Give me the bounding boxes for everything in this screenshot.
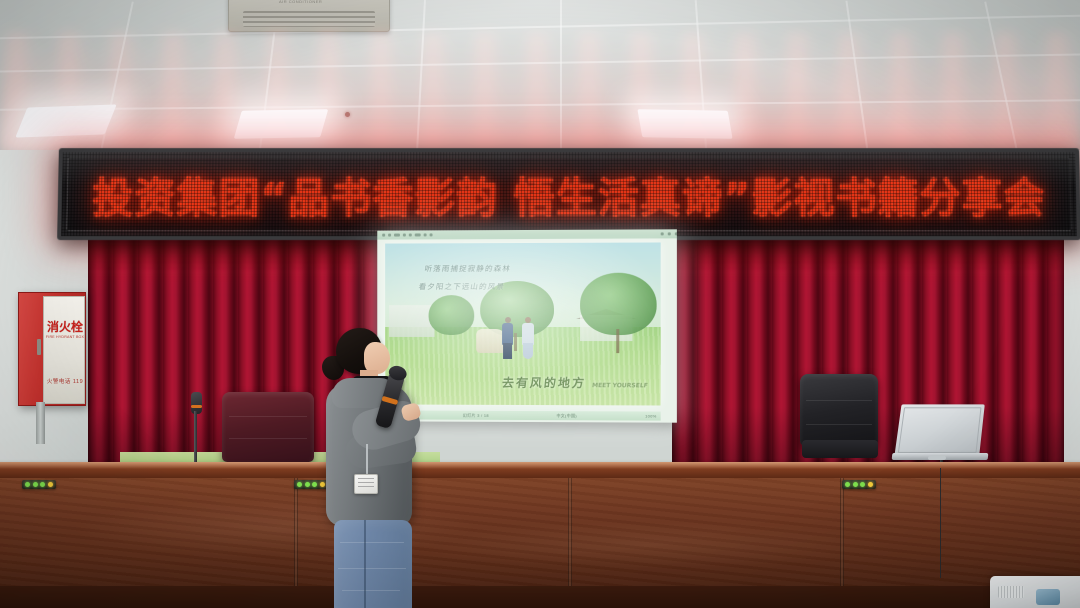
status-led [297,482,302,487]
presentation-status-bar: 幻灯片 3 / 18 中文(中国) 100% [385,410,661,420]
microphone-indicator-ring [381,396,398,405]
laptop-screen-bezel [898,407,982,453]
fire-cabinet-sublabel: 火警电话 119 [46,377,84,385]
chair-black-right[interactable] [800,374,878,470]
standpipe [36,402,45,444]
fire-cabinet-hinge [37,339,41,355]
status-led [853,482,858,487]
microphone-grille [387,364,408,382]
desk-plinth [0,586,1080,608]
zoom-level: 100% [645,413,657,418]
jeans-fold [338,568,406,569]
laptop-trackpad[interactable] [928,456,946,460]
ceiling: AIR CONDITIONER [0,0,1080,152]
status-led [25,482,30,487]
desk-led-strip-3[interactable] [842,480,876,489]
microphone-gooseneck [194,411,197,467]
status-led [33,482,38,487]
status-led [48,482,53,487]
chair-stitch [229,438,306,439]
undo-icon[interactable] [388,234,391,237]
desk-top-surface [0,462,1080,478]
desk-front-panel [0,478,1080,586]
led-banner-display[interactable]: 投资集团“品书香影韵 悟生活真谛”影视书籍分享会 [57,148,1080,240]
slide-projection-glow [385,242,661,405]
fire-cabinet-label-en: FIRE HYDRANT BOX [45,335,85,339]
slide-canvas: 听落雨捕捉寂静的森林 看夕阳之下远山的风景 去有风的地方 MEET YOURSE… [385,242,661,405]
desk-panel-divider [840,478,844,586]
presenter-badge [354,474,378,494]
text-icon[interactable] [409,234,412,237]
laptop[interactable] [892,404,988,466]
status-led [40,482,45,487]
conference-desk [0,462,1080,608]
jeans-fold [340,542,404,543]
chair-stitch [806,400,872,401]
chair-stitch [806,424,872,425]
jeans-fold [342,590,400,591]
close-icon[interactable] [675,232,677,235]
hoodie-drawstring [366,444,368,476]
status-led [868,482,873,487]
chair-stitch [229,416,306,417]
ac-grill [243,11,375,27]
shapes-icon[interactable] [403,234,406,237]
paint-icon[interactable] [415,233,421,236]
led-glass-sheen [62,152,1076,186]
projector-lens [1036,589,1060,605]
desk-panel-divider [568,478,572,586]
microphone-indicator-ring [191,405,202,408]
presenter [308,328,426,608]
language-indicator: 中文(中国) [556,413,577,419]
window-controls[interactable] [661,232,677,235]
maximize-icon[interactable] [668,232,671,235]
led-banner-red-glow [0,32,1080,152]
slide-counter: 幻灯片 3 / 18 [463,412,489,418]
fire-cabinet-label-zh: 消火栓 [47,321,83,333]
conference-room-photo: AIR CONDITIONER 投资集团“品书香影韵 悟生活真谛”影视书籍分享会 [0,0,1080,608]
chair-backrest [800,374,878,446]
desk-microphone-left[interactable] [182,392,212,472]
presentation-toolbar[interactable] [377,229,677,239]
status-led [860,482,865,487]
laptop-lid [894,404,984,456]
chair-seat [802,440,878,458]
desk-top-highlight [0,462,1080,469]
table-icon[interactable] [430,233,433,236]
fire-hydrant-cabinet[interactable]: 消火栓 FIRE HYDRANT BOX 火警电话 119 [18,292,86,406]
ac-label: AIR CONDITIONER [279,0,322,4]
desk-wood-grain [0,478,1080,586]
ac-cassette-unit: AIR CONDITIONER [228,0,390,32]
chair-backrest [222,392,314,462]
status-led [845,482,850,487]
save-icon[interactable] [382,234,385,237]
desk-led-strip-1[interactable] [22,480,56,489]
minimize-icon[interactable] [661,232,664,235]
projector[interactable] [990,576,1080,608]
fire-cabinet-door[interactable]: 消火栓 FIRE HYDRANT BOX 火警电话 119 [43,296,85,404]
image-icon[interactable] [424,233,427,236]
microphone-cable [940,468,967,578]
projector-vent [998,586,1024,598]
redo-icon[interactable] [394,234,400,237]
desk-panel-divider [294,478,298,586]
presenter-jeans [334,520,412,608]
